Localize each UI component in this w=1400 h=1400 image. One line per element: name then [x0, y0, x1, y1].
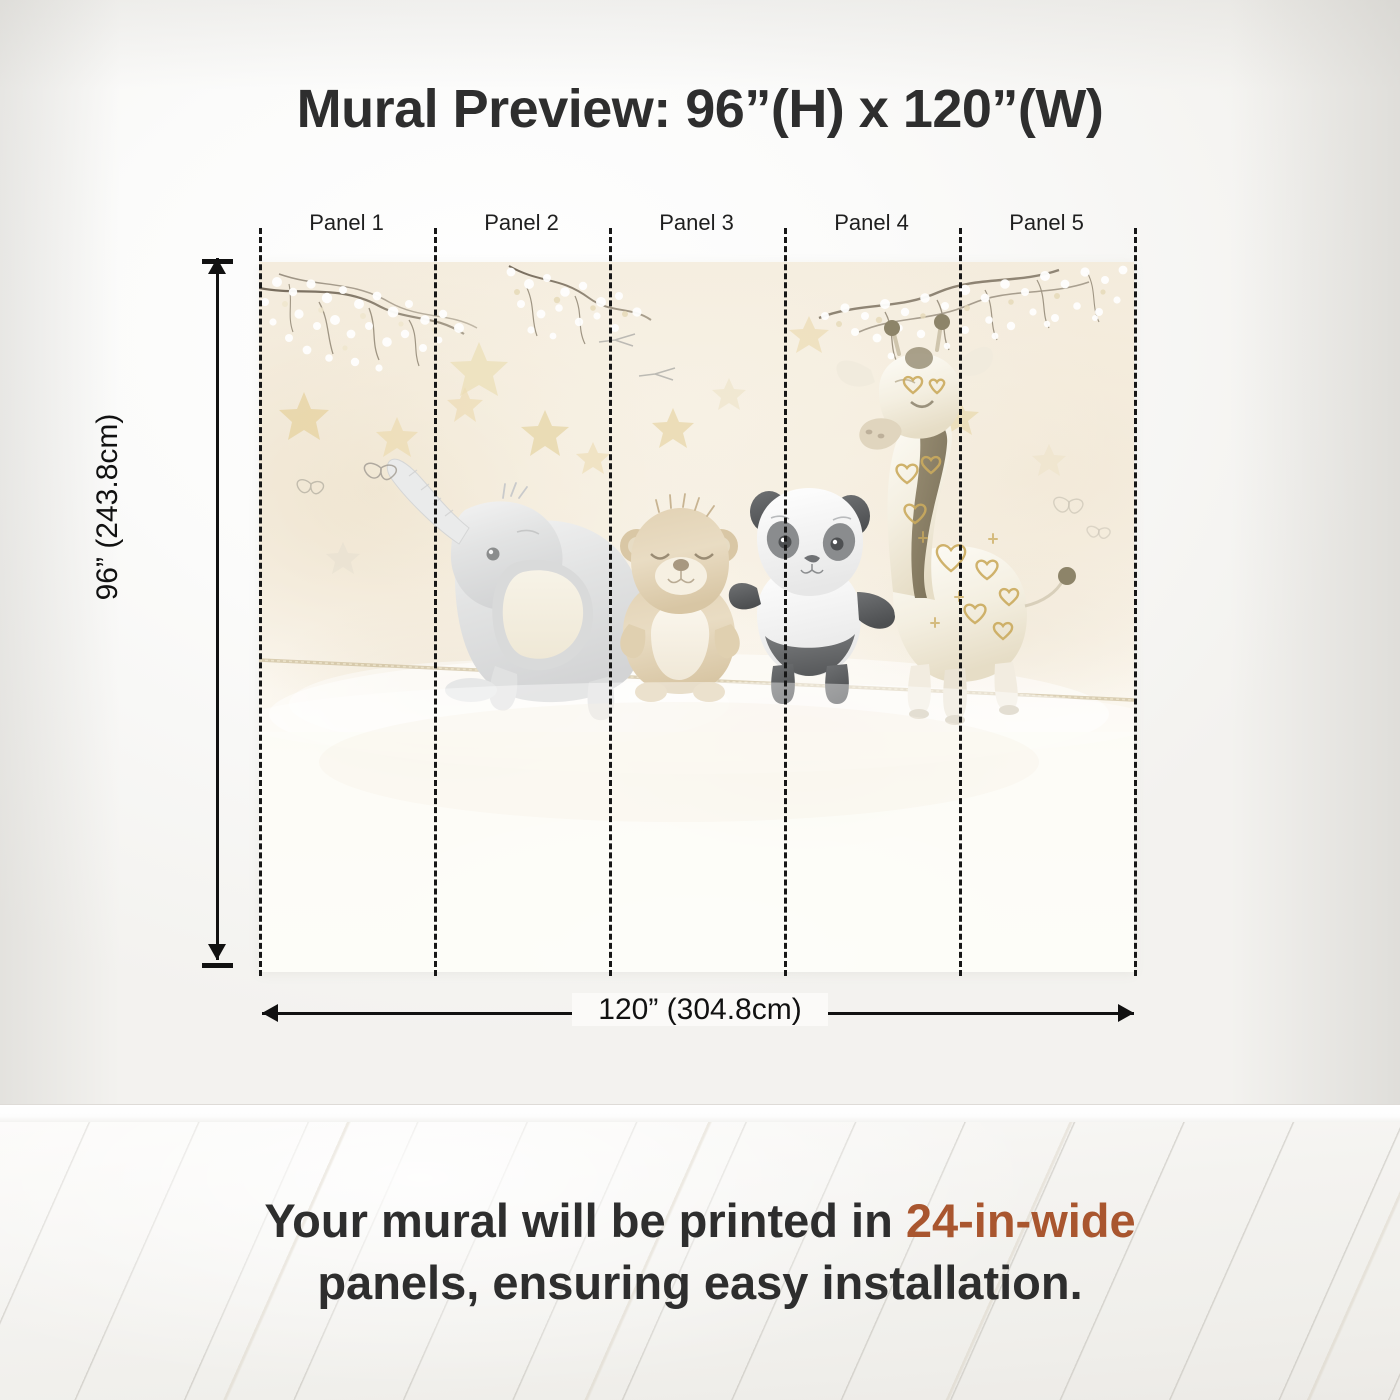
- panel-label-5: Panel 5: [959, 210, 1134, 244]
- page-title: Mural Preview: 96”(H) x 120”(W): [0, 78, 1400, 140]
- caption-accent: 24-in-wide: [906, 1194, 1136, 1247]
- caption-line2: panels, ensuring easy installation.: [317, 1256, 1082, 1309]
- mural-artwork: [259, 262, 1134, 972]
- width-dimension-label: 120” (304.8cm): [0, 993, 1400, 1027]
- panel-cut-line-4: [959, 228, 962, 976]
- height-dimension-arrow: [216, 258, 219, 960]
- panel-cut-line-3: [784, 228, 787, 976]
- blossom-branch-right: [819, 266, 1127, 362]
- caption-line1-before: Your mural will be printed in: [264, 1194, 906, 1247]
- baseboard: [0, 1104, 1400, 1124]
- panel-cut-line-2: [609, 228, 612, 976]
- blossom-branch-left: [259, 274, 477, 372]
- bear-cub-illustration: [620, 494, 740, 702]
- blossom-branch-center: [507, 266, 651, 344]
- panel-cut-line-5: [1134, 228, 1137, 976]
- height-tick-bottom: [202, 963, 233, 968]
- wall-right-shadow: [1230, 0, 1400, 1122]
- panel-label-row: Panel 1 Panel 2 Panel 3 Panel 4 Panel 5: [259, 210, 1134, 244]
- mural-preview-screenshot: Mural Preview: 96”(H) x 120”(W) Panel 1 …: [0, 0, 1400, 1400]
- panel-label-1: Panel 1: [259, 210, 434, 244]
- mural-illustration: [259, 262, 1134, 972]
- panel-cut-line-1: [434, 228, 437, 976]
- footer-caption: Your mural will be printed in 24-in-wide…: [60, 1190, 1340, 1314]
- height-dimension-label: 96” (243.8cm): [91, 387, 125, 627]
- panel-label-3: Panel 3: [609, 210, 784, 244]
- panel-label-4: Panel 4: [784, 210, 959, 244]
- width-dimension-text: 120” (304.8cm): [572, 993, 827, 1026]
- panel-label-2: Panel 2: [434, 210, 609, 244]
- panel-cut-line-0: [259, 228, 262, 976]
- wall-top-shadow: [0, 0, 1400, 90]
